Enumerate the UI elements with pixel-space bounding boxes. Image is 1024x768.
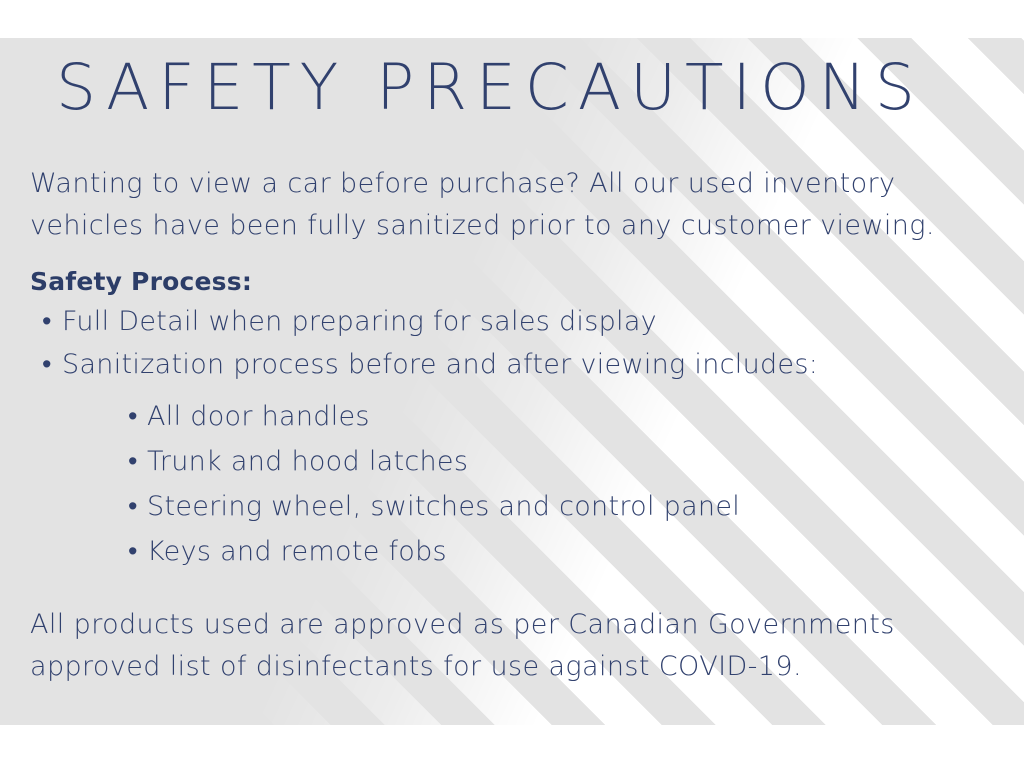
closing-paragraph: All products used are approved as per Ca… xyxy=(30,604,995,688)
section-heading-safety-process: Safety Process: xyxy=(30,267,995,296)
page-title: SAFETY PRECAUTIONS xyxy=(56,56,924,119)
body-block: Wanting to view a car before purchase? A… xyxy=(30,163,995,688)
list-item: Full Detail when preparing for sales dis… xyxy=(42,300,995,343)
safety-process-list: Full Detail when preparing for sales dis… xyxy=(30,300,995,386)
sanitization-sublist: All door handles Trunk and hood latches … xyxy=(30,394,995,574)
poster-card: SAFETY PRECAUTIONS Wanting to view a car… xyxy=(0,38,1024,725)
intro-line-2: vehicles have been fully sanitized prior… xyxy=(30,205,995,247)
list-item: Steering wheel, switches and control pan… xyxy=(128,484,995,529)
intro-paragraph: Wanting to view a car before purchase? A… xyxy=(30,163,995,247)
list-item: All door handles xyxy=(128,394,995,439)
intro-line-1: Wanting to view a car before purchase? A… xyxy=(30,163,995,205)
list-item: Keys and remote fobs xyxy=(128,529,995,574)
closing-line-2: approved list of disinfectants for use a… xyxy=(30,646,995,688)
list-item: Sanitization process before and after vi… xyxy=(42,343,995,386)
closing-line-1: All products used are approved as per Ca… xyxy=(30,604,995,646)
list-item: Trunk and hood latches xyxy=(128,439,995,484)
